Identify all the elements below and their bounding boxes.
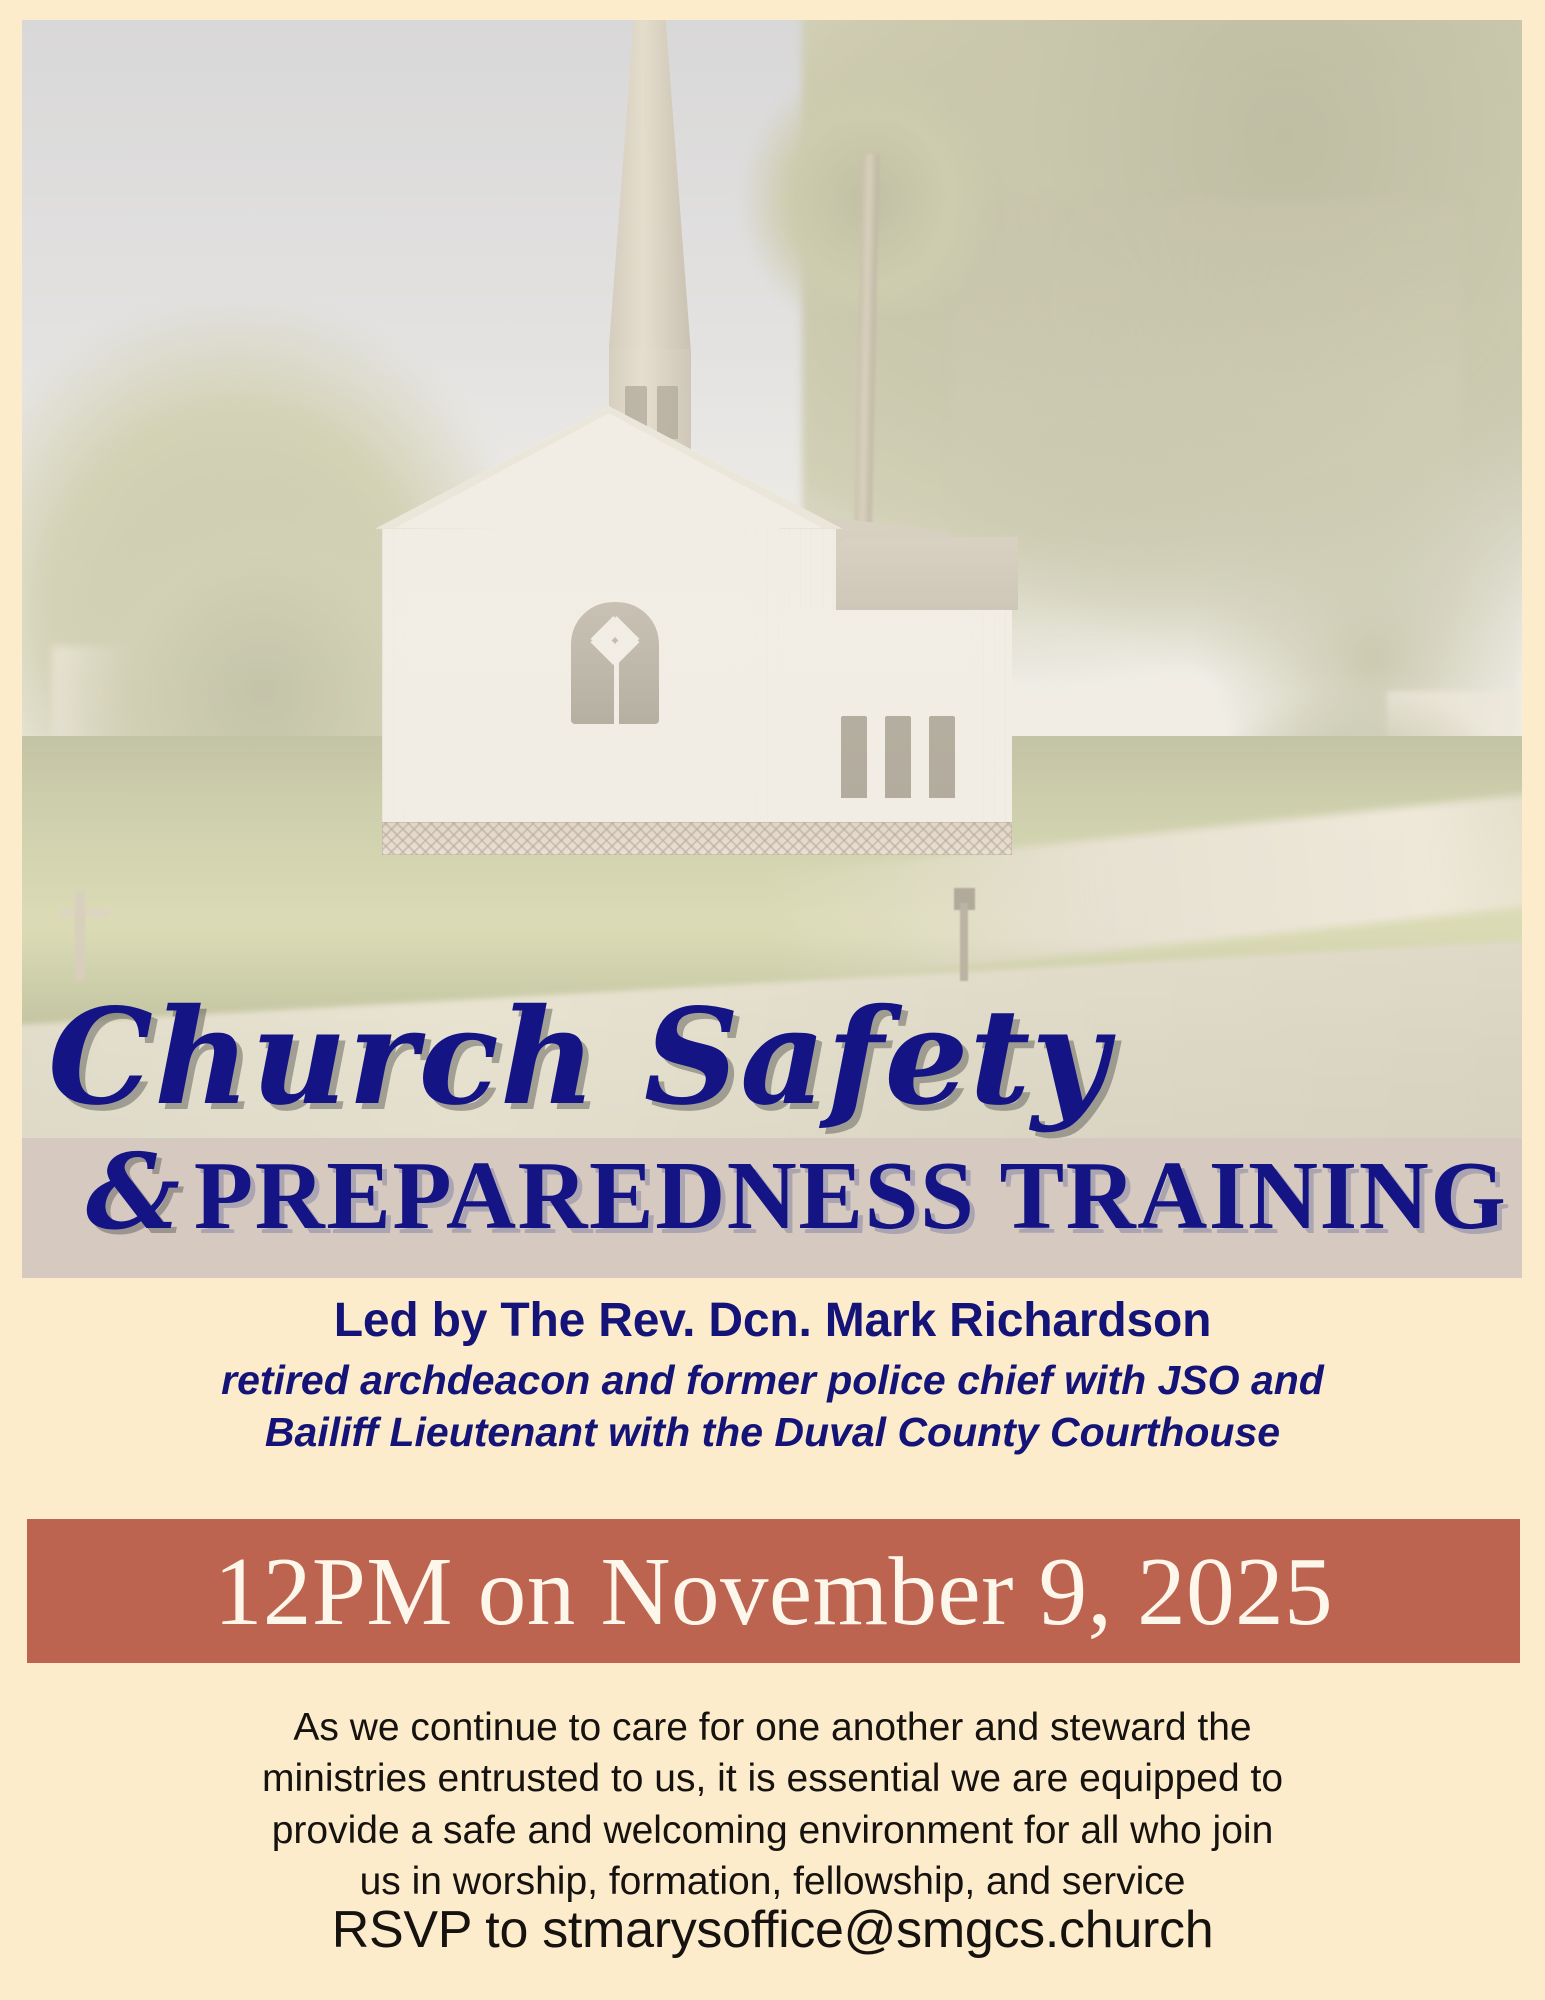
presenter-name: Led by The Rev. Dcn. Mark Richardson — [0, 1294, 1545, 1348]
date-banner: 12PM on November 9, 2025 — [27, 1519, 1520, 1663]
fence-post — [75, 892, 86, 981]
event-datetime: 12PM on November 9, 2025 — [214, 1543, 1333, 1640]
presenter-role-line-2: Bailiff Lieutenant with the Duval County… — [0, 1406, 1545, 1458]
presenter-block: Led by The Rev. Dcn. Mark Richardson ret… — [0, 1294, 1545, 1459]
church-building — [382, 422, 1012, 830]
title-second-line: & PREPAREDNESS TRAINING — [86, 1140, 1507, 1244]
event-flyer: Church Safety & PREPAREDNESS TRAINING Le… — [0, 0, 1545, 2000]
wing-window-2 — [885, 716, 911, 798]
presenter-role: retired archdeacon and former police chi… — [0, 1354, 1545, 1459]
title-caps-line: PREPAREDNESS TRAINING — [194, 1147, 1507, 1244]
wing-window-1 — [841, 716, 867, 798]
gothic-window — [571, 602, 659, 724]
rsvp-line[interactable]: RSVP to stmarysoffice@smgcs.church — [0, 1904, 1545, 1956]
body-paragraph: As we continue to care for one another a… — [140, 1702, 1405, 1908]
presenter-role-line-1: retired archdeacon and former police chi… — [0, 1354, 1545, 1406]
church-photo — [22, 20, 1522, 1138]
church-photo-scene — [22, 20, 1522, 1138]
brick-foundation — [382, 822, 1012, 855]
body-line-1: As we continue to care for one another a… — [140, 1702, 1405, 1753]
window-mullion — [614, 651, 618, 724]
gable-siding — [376, 406, 842, 528]
title-script-line: Church Safety — [48, 992, 1109, 1124]
wing-window-3 — [929, 716, 955, 798]
steeple-louvre-right — [657, 386, 678, 439]
lamp-post — [960, 903, 968, 981]
title-ampersand: & — [86, 1140, 180, 1244]
body-line-3: provide a safe and welcoming environment… — [140, 1805, 1405, 1856]
gable-front — [376, 406, 842, 528]
body-line-2: ministries entrusted to us, it is essent… — [140, 1753, 1405, 1804]
